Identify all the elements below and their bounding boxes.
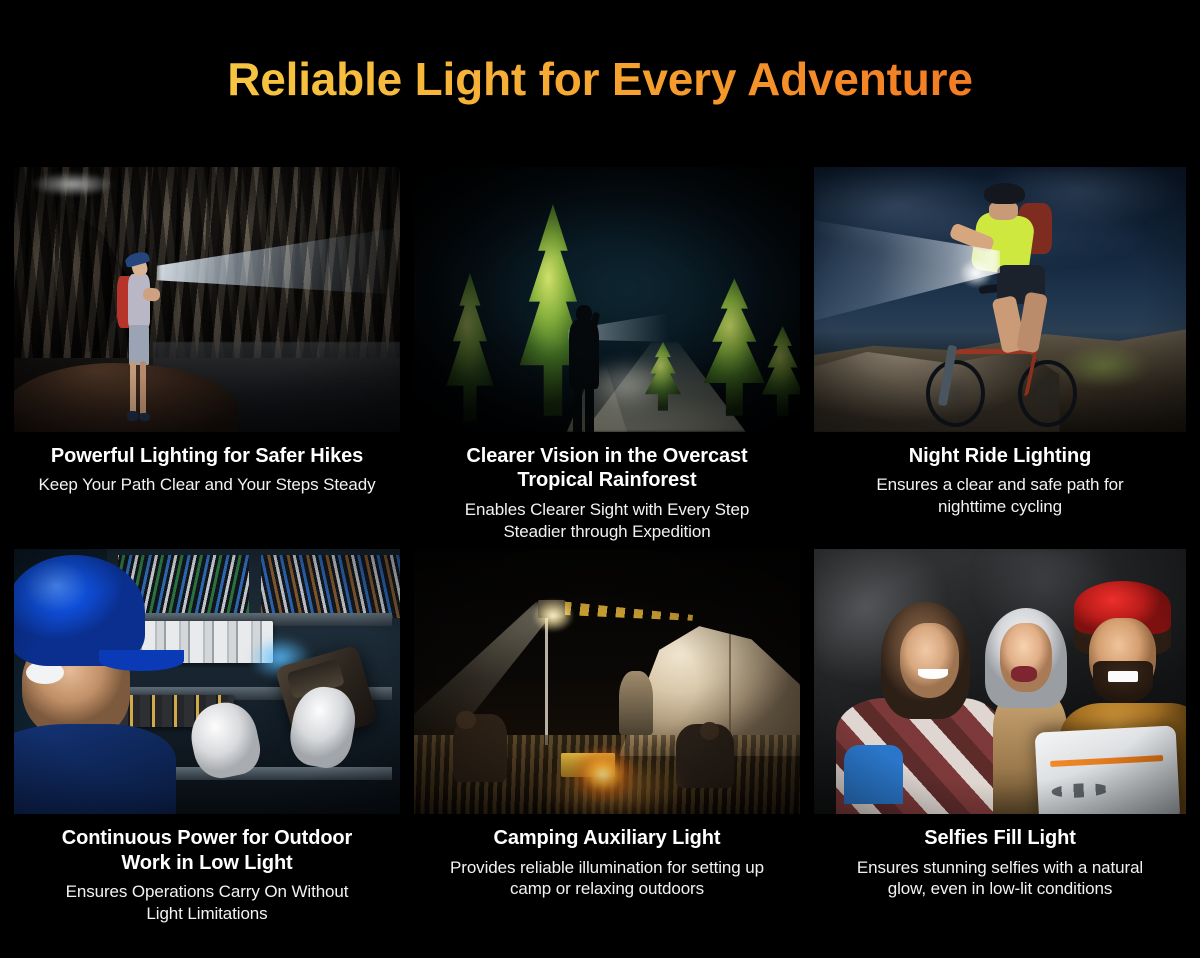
card-title: Camping Auxiliary Light: [420, 826, 794, 850]
feature-grid-page: Reliable Light for Every Adventure: [0, 0, 1200, 958]
feature-card-continuous-power[interactable]: Continuous Power for Outdoor Work in Low…: [14, 549, 400, 924]
feature-card-selfies-fill-light[interactable]: Selfies Fill Light Ensures stunning self…: [814, 549, 1186, 924]
feature-card-clearer-vision[interactable]: Clearer Vision in the Overcast Tropical …: [414, 167, 800, 542]
camping-vignette: [414, 549, 800, 814]
card-title: Night Ride Lighting: [820, 444, 1180, 468]
card-caption: Night Ride Lighting Ensures a clear and …: [814, 432, 1186, 518]
electrical-vignette: [14, 549, 400, 814]
feature-card-grid: Powerful Lighting for Safer Hikes Keep Y…: [14, 167, 1186, 925]
night-cycling-image: [814, 167, 1186, 432]
forest-vignette: [414, 167, 800, 432]
camping-night-image: [414, 549, 800, 814]
card-subtitle: Provides reliable illumination for setti…: [420, 857, 794, 901]
card-subtitle: Ensures stunning selfies with a natural …: [820, 857, 1180, 901]
forest-night-image: [414, 167, 800, 432]
feature-card-powerful-lighting[interactable]: Powerful Lighting for Safer Hikes Keep Y…: [14, 167, 400, 542]
selfie-group-image: [814, 549, 1186, 814]
card-subtitle: Keep Your Path Clear and Your Steps Stea…: [20, 474, 394, 496]
page-title: Reliable Light for Every Adventure: [0, 54, 1200, 105]
card-caption: Continuous Power for Outdoor Work in Low…: [14, 814, 400, 924]
card-caption: Selfies Fill Light Ensures stunning self…: [814, 814, 1186, 900]
card-title: Selfies Fill Light: [820, 826, 1180, 850]
bike-vignette: [814, 167, 1186, 432]
card-caption: Clearer Vision in the Overcast Tropical …: [414, 432, 800, 542]
card-caption: Powerful Lighting for Safer Hikes Keep Y…: [14, 432, 400, 496]
cave-vignette: [14, 167, 400, 432]
card-subtitle: Ensures a clear and safe path for nightt…: [820, 474, 1180, 518]
card-subtitle: Enables Clearer Sight with Every Step St…: [420, 499, 794, 543]
card-title: Powerful Lighting for Safer Hikes: [20, 444, 394, 468]
card-subtitle: Ensures Operations Carry On Without Ligh…: [20, 881, 394, 925]
electrical-work-image: [14, 549, 400, 814]
feature-card-night-ride[interactable]: Night Ride Lighting Ensures a clear and …: [814, 167, 1186, 542]
card-caption: Camping Auxiliary Light Provides reliabl…: [414, 814, 800, 900]
selfie-vignette: [814, 549, 1186, 814]
cave-hike-image: [14, 167, 400, 432]
card-title: Continuous Power for Outdoor Work in Low…: [20, 826, 394, 875]
card-title: Clearer Vision in the Overcast Tropical …: [420, 444, 794, 493]
feature-card-camping-light[interactable]: Camping Auxiliary Light Provides reliabl…: [414, 549, 800, 924]
